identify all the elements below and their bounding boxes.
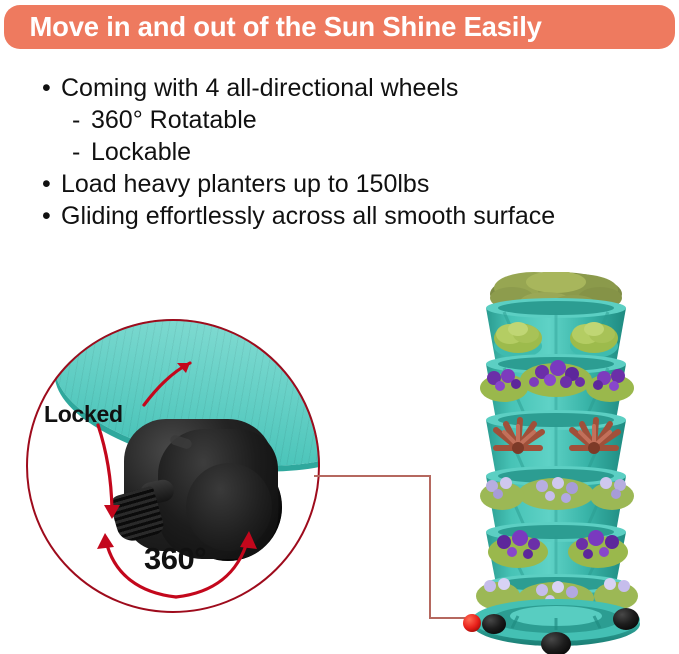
bullet-icon: • — [42, 72, 61, 104]
tier-4-plants — [480, 477, 634, 510]
planter-base — [463, 599, 640, 654]
caster-wheel-right — [613, 608, 639, 630]
list-item: • Load heavy planters up to 150lbs — [42, 168, 672, 200]
dash-icon: - — [72, 104, 91, 136]
bullet-icon: • — [42, 168, 61, 200]
list-item: • Gliding effortlessly across all smooth… — [42, 200, 672, 232]
page-title: Move in and out of the Sun Shine Easily — [4, 11, 542, 43]
feature-list: • Coming with 4 all-directional wheels -… — [42, 72, 672, 232]
list-item-label: 360° Rotatable — [91, 104, 257, 136]
product-name: stackable vertical planter tower — [0, 0, 1, 1]
highlighted-caster-wheel — [463, 614, 481, 632]
list-item-label: Lockable — [91, 136, 191, 168]
bullet-icon: • — [42, 200, 61, 232]
planter-tower-illustration — [446, 272, 679, 654]
callout-ring-icon — [26, 319, 320, 613]
dash-icon: - — [72, 136, 91, 168]
caster-wheel-left — [482, 614, 506, 634]
header-banner: Move in and out of the Sun Shine Easily — [4, 5, 675, 49]
list-item-label: Coming with 4 all-directional wheels — [61, 72, 458, 104]
list-item-label: Gliding effortlessly across all smooth s… — [61, 200, 555, 232]
list-item: • Coming with 4 all-directional wheels — [42, 72, 672, 104]
product-image — [446, 272, 679, 654]
list-item: - Lockable — [42, 136, 672, 168]
list-item: - 360° Rotatable — [42, 104, 672, 136]
wheel-detail-callout: Locked 360° — [26, 319, 320, 613]
planter-tier-1 — [486, 272, 626, 364]
list-item-label: Load heavy planters up to 150lbs — [61, 168, 429, 200]
